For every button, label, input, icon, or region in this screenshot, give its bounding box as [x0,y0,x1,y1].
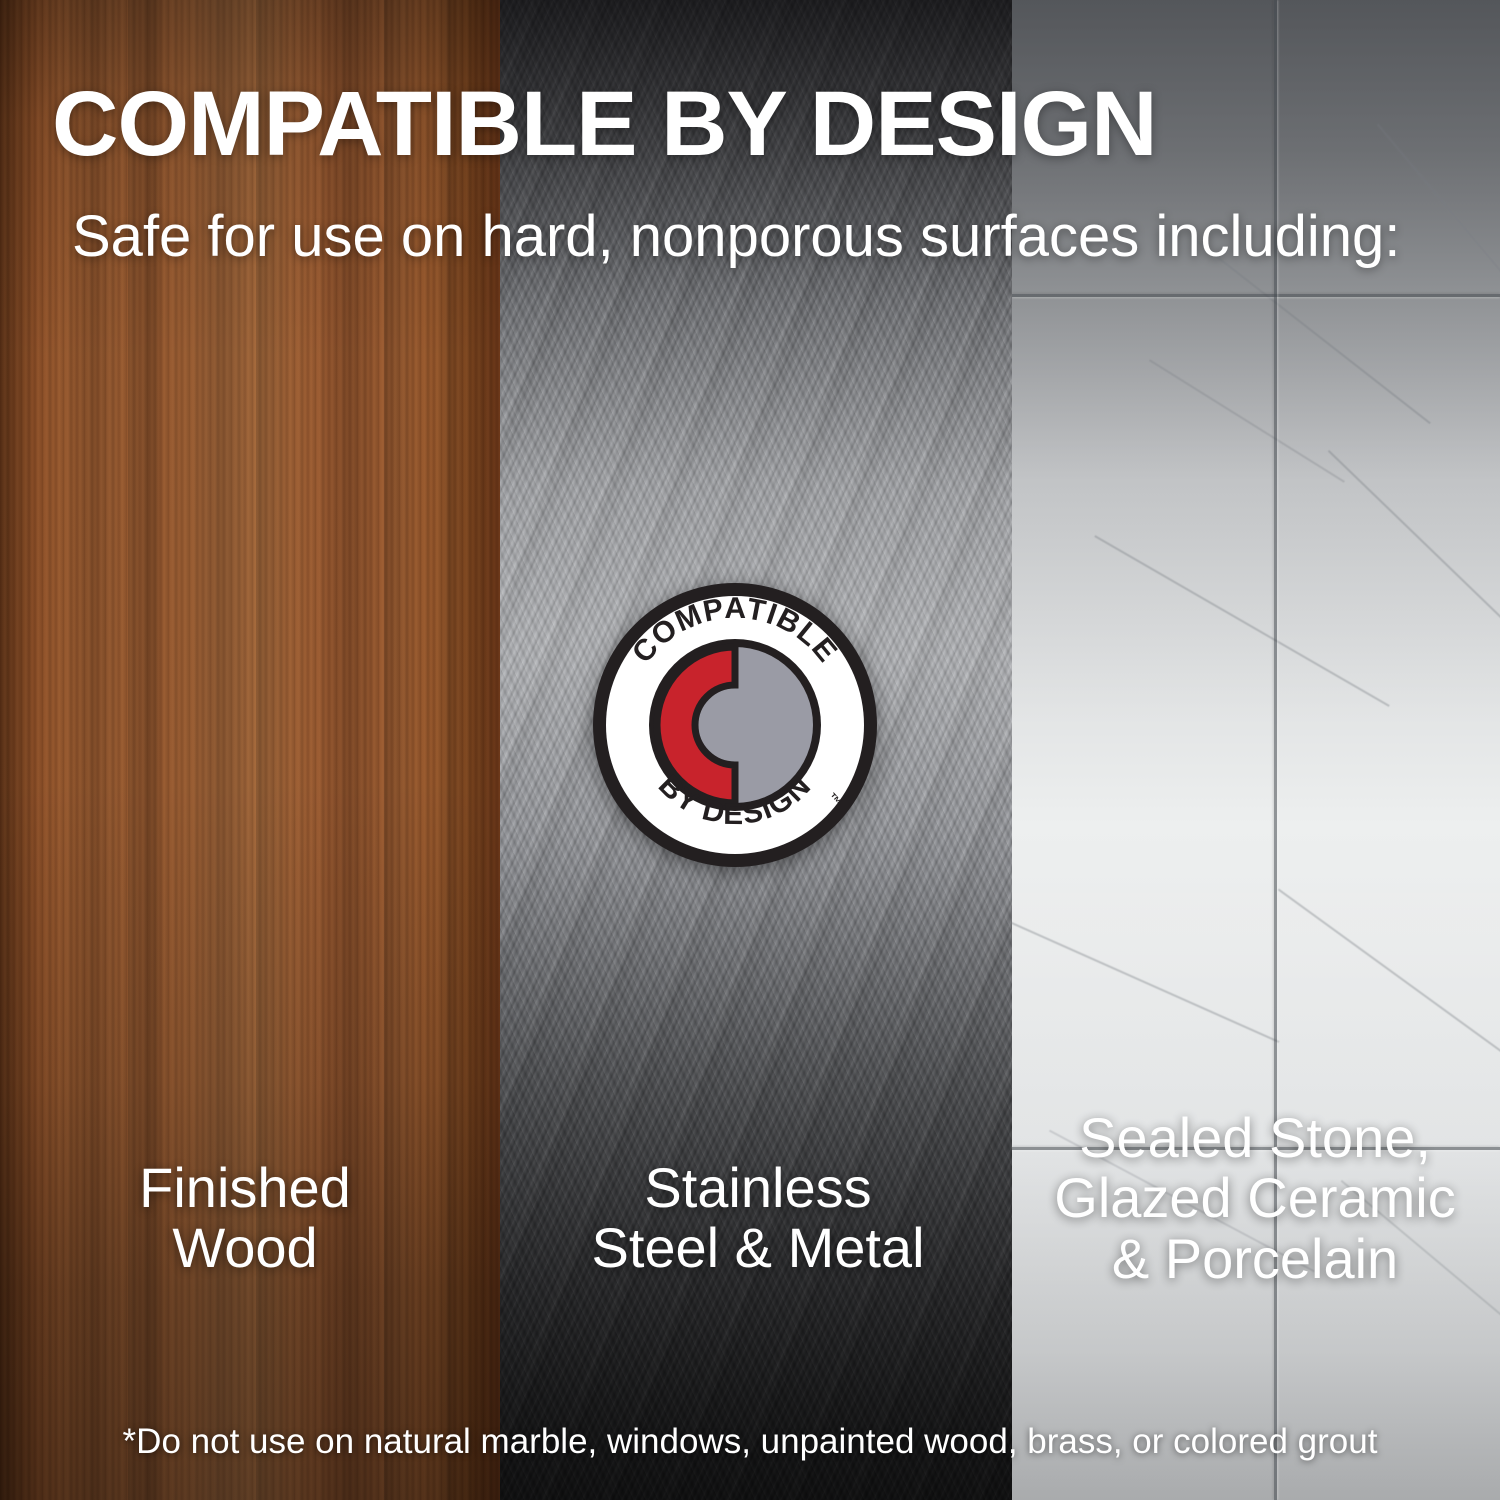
caption-stainless-steel: Stainless Steel & Metal [508,1158,1008,1279]
tile-grout-horizontal [1012,294,1500,297]
infographic-canvas: COMPATIBLE BY DESIGN Safe for use on har… [0,0,1500,1500]
compatible-by-design-logo: COMPATIBLE BY DESIGN ™ [590,580,880,870]
caption-line: Finished [10,1158,480,1218]
marble-vein [1149,359,1345,482]
marble-vein [1328,450,1500,632]
caption-line: Sealed Stone, [1016,1108,1494,1168]
caption-line: & Porcelain [1016,1229,1494,1289]
page-title: COMPATIBLE BY DESIGN [52,78,1452,170]
caption-line: Wood [10,1218,480,1278]
caption-line: Glazed Ceramic [1016,1168,1494,1228]
marble-vein [1094,535,1389,707]
caption-finished-wood: Finished Wood [10,1158,480,1279]
marble-vein [1278,889,1500,1114]
page-subtitle: Safe for use on hard, nonporous surfaces… [72,208,1462,266]
caption-line: Stainless [508,1158,1008,1218]
caption-sealed-stone: Sealed Stone, Glazed Ceramic & Porcelain [1016,1108,1494,1289]
caption-line: Steel & Metal [508,1218,1008,1278]
marble-vein [1012,919,1279,1043]
disclaimer-footnote: *Do not use on natural marble, windows, … [0,1422,1500,1462]
